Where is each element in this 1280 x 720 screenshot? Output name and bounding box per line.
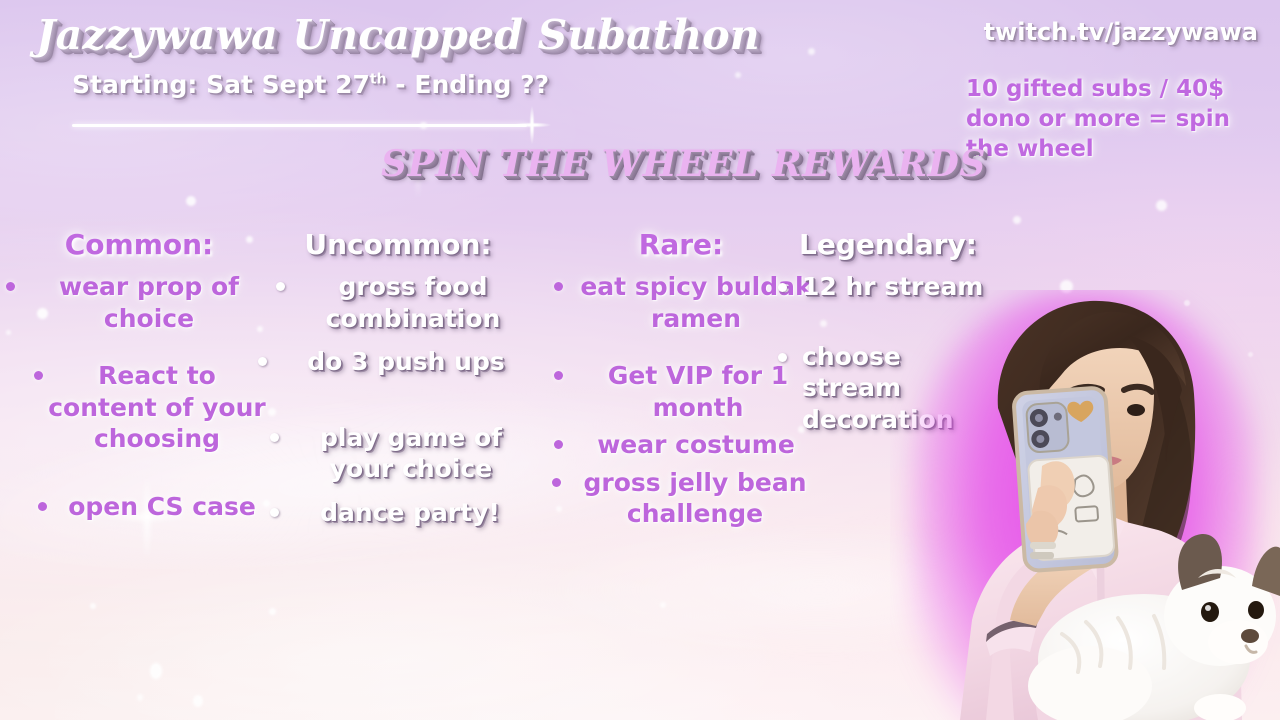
reward-item: gross food combination: [258, 271, 538, 334]
spin-rule-line: dono or more = spin: [966, 105, 1266, 133]
reward-label: dance party!: [258, 497, 538, 529]
bullet-icon: [554, 282, 563, 291]
reward-item: React to content of your choosing: [6, 360, 272, 455]
stream-overlay-canvas: Jazzywawa Uncapped Subathon Starting: Sa…: [0, 0, 1280, 720]
bokeh-dot: [90, 603, 96, 609]
bokeh-dot: [137, 694, 143, 701]
column-heading-common: Common:: [6, 228, 272, 261]
rewards-column-uncommon: Uncommon: gross food combination do 3 pu…: [258, 228, 538, 546]
bokeh-dot: [808, 48, 815, 55]
bokeh-dot: [150, 663, 162, 679]
column-heading-legendary: Legendary:: [772, 228, 1004, 261]
reward-label: React to content of your choosing: [6, 360, 272, 455]
section-title-spin-the-wheel-rewards: SPIN THE WHEEL REWARDS: [381, 143, 986, 185]
spin-rules: 10 gifted subs / 40$ dono or more = spin…: [966, 75, 1266, 165]
bullet-icon: [270, 433, 279, 442]
spin-rule-line: the wheel: [966, 135, 1266, 163]
reward-item: gross jelly bean challenge: [536, 467, 826, 530]
header-divider: [72, 124, 527, 127]
bullet-icon: [552, 478, 561, 487]
bokeh-dot: [1156, 200, 1167, 211]
bullet-icon: [778, 283, 787, 292]
spin-rule-line: 10 gifted subs / 40$: [966, 75, 1266, 103]
bullet-icon: [276, 282, 285, 291]
reward-list-uncommon: gross food combination do 3 push ups pla…: [258, 271, 538, 528]
bokeh-dot: [269, 608, 276, 615]
bullet-icon: [34, 371, 43, 380]
bokeh-dot: [193, 695, 203, 707]
bokeh-dot: [660, 602, 666, 608]
reward-item: wear prop of choice: [6, 271, 272, 334]
bullet-icon: [38, 502, 47, 511]
reward-item: dance party!: [258, 497, 538, 529]
streamer-photo-cutout: [890, 290, 1280, 720]
reward-label: play game of your choice: [258, 422, 538, 485]
subtitle-ordinal: th: [370, 72, 387, 88]
reward-item: play game of your choice: [258, 422, 538, 485]
bullet-icon: [6, 282, 15, 291]
subtitle-pre: Starting: Sat Sept 27: [72, 70, 370, 99]
reward-list-common: wear prop of choice React to content of …: [6, 271, 272, 522]
rewards-column-common: Common: wear prop of choice React to con…: [6, 228, 272, 540]
subtitle-post: - Ending ??: [387, 70, 550, 99]
bullet-icon: [258, 357, 267, 366]
bullet-icon: [554, 440, 563, 449]
bokeh-dot: [186, 196, 196, 206]
bullet-icon: [778, 353, 787, 362]
streamer-photo-illustration: [890, 290, 1280, 720]
twitch-handle-link[interactable]: twitch.tv/jazzywawa: [984, 18, 1258, 46]
reward-label: gross jelly bean challenge: [536, 467, 826, 530]
page-title: Jazzywawa Uncapped Subathon: [36, 11, 760, 59]
reward-label: do 3 push ups: [258, 346, 538, 378]
reward-item: do 3 push ups: [258, 346, 538, 378]
sparkle-speck: [1184, 300, 1190, 306]
reward-label: gross food combination: [258, 271, 538, 334]
subtitle-dates: Starting: Sat Sept 27th - Ending ??: [72, 70, 549, 99]
column-heading-uncommon: Uncommon:: [258, 228, 538, 261]
reward-label: wear prop of choice: [6, 271, 272, 334]
bokeh-dot: [1013, 216, 1021, 224]
reward-item: open CS case: [6, 491, 272, 523]
bullet-icon: [554, 371, 563, 380]
bullet-icon: [270, 508, 279, 517]
sparkle-speck: [1248, 352, 1253, 357]
bokeh-dot: [735, 72, 741, 78]
